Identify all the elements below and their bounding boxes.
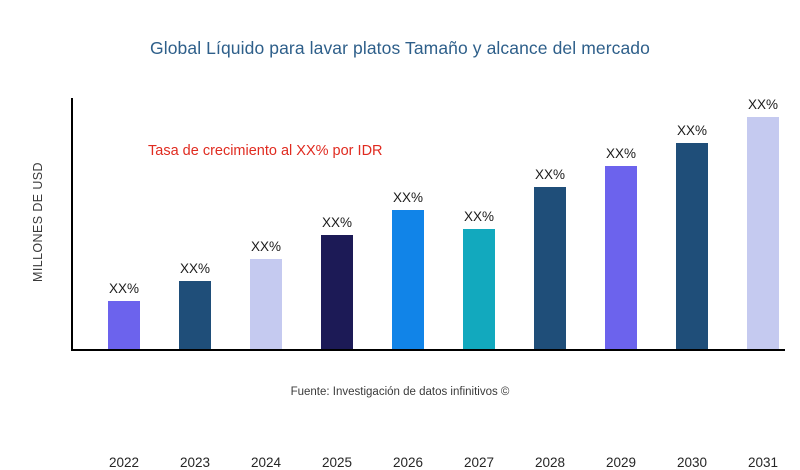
- bar-value-label-2029: XX%: [606, 146, 636, 161]
- bar-value-label-2027: XX%: [464, 209, 494, 224]
- bar-2028[interactable]: XX%: [534, 187, 566, 349]
- bar-2024[interactable]: XX%: [250, 259, 282, 349]
- x-tick-2025: 2025: [322, 455, 352, 470]
- bar-chart-figure: Global Líquido para lavar platos Tamaño …: [0, 0, 800, 450]
- x-tick-2027: 2027: [464, 455, 494, 470]
- x-tick-2028: 2028: [535, 455, 565, 470]
- x-tick-2026: 2026: [393, 455, 423, 470]
- x-tick-2023: 2023: [180, 455, 210, 470]
- bar-2031[interactable]: XX%: [747, 117, 779, 349]
- x-tick-2030: 2030: [677, 455, 707, 470]
- y-axis-line: [71, 98, 73, 351]
- x-tick-2022: 2022: [109, 455, 139, 470]
- bar-2026[interactable]: XX%: [392, 210, 424, 349]
- bar-value-label-2026: XX%: [393, 190, 423, 205]
- bar-value-label-2031: XX%: [748, 97, 778, 112]
- bar-value-label-2028: XX%: [535, 167, 565, 182]
- bar-value-label-2025: XX%: [322, 215, 352, 230]
- chart-title: Global Líquido para lavar platos Tamaño …: [0, 38, 800, 59]
- bar-2025[interactable]: XX%: [321, 235, 353, 349]
- x-axis-line: [71, 349, 785, 351]
- source-note: Fuente: Investigación de datos infinitiv…: [0, 386, 800, 398]
- bar-2030[interactable]: XX%: [676, 143, 708, 349]
- x-tick-2024: 2024: [251, 455, 281, 470]
- bar-value-label-2024: XX%: [251, 239, 281, 254]
- bar-value-label-2023: XX%: [180, 261, 210, 276]
- bar-2023[interactable]: XX%: [179, 281, 211, 349]
- x-tick-2029: 2029: [606, 455, 636, 470]
- y-axis-title: MILLONES DE USD: [31, 92, 45, 352]
- bar-value-label-2030: XX%: [677, 123, 707, 138]
- bar-2022[interactable]: XX%: [108, 301, 140, 349]
- x-tick-2031: 2031: [748, 455, 778, 470]
- bar-value-label-2022: XX%: [109, 281, 139, 296]
- bar-2027[interactable]: XX%: [463, 229, 495, 349]
- bar-2029[interactable]: XX%: [605, 166, 637, 349]
- plot-area: XX%XX%XX%XX%XX%XX%XX%XX%XX%XX% 202220232…: [71, 98, 785, 351]
